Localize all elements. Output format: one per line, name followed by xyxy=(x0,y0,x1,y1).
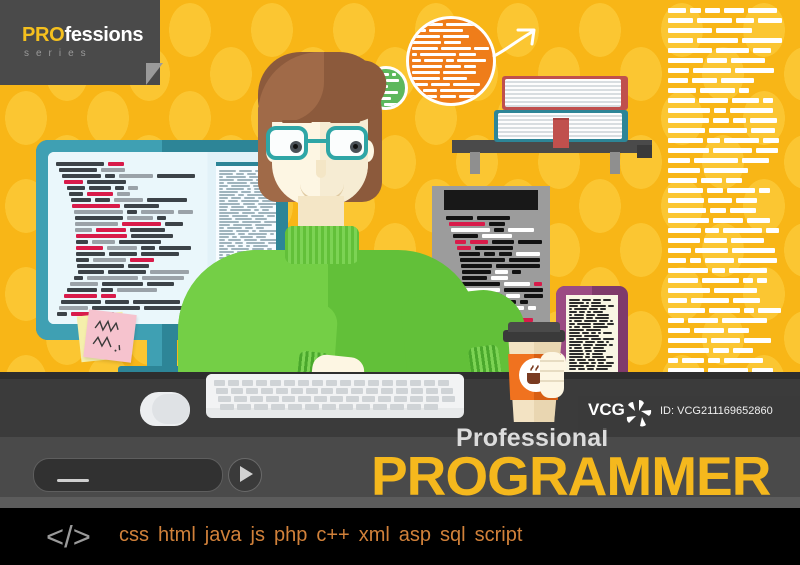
code-line xyxy=(748,8,777,13)
code-line xyxy=(705,258,734,263)
doc-line xyxy=(255,218,267,220)
tablet-text-line xyxy=(576,338,589,340)
keyboard-key[interactable] xyxy=(356,404,370,410)
code-line xyxy=(668,268,708,273)
code-line xyxy=(700,88,735,93)
code-line xyxy=(440,95,456,98)
code-line xyxy=(61,300,101,304)
code-line xyxy=(692,78,717,83)
doc-line xyxy=(227,245,235,247)
tablet-text-line xyxy=(569,344,581,346)
character-fingers xyxy=(540,352,564,398)
keyboard-key[interactable] xyxy=(441,388,453,394)
doc-line xyxy=(219,218,232,220)
keyboard-key[interactable] xyxy=(390,404,404,410)
tablet-text-line xyxy=(586,365,595,367)
tablet-text-line xyxy=(569,317,584,319)
code-line xyxy=(453,234,478,238)
keyboard-key[interactable] xyxy=(218,396,231,402)
coffee-cup-lid-top xyxy=(508,322,560,332)
code-line xyxy=(509,258,540,262)
keyboard-key[interactable] xyxy=(306,388,318,394)
doc-line xyxy=(264,221,276,223)
doc-line xyxy=(235,242,243,244)
language-tag[interactable]: html xyxy=(158,524,196,546)
code-line xyxy=(528,306,536,310)
code-line xyxy=(69,192,83,196)
code-line xyxy=(423,89,437,92)
doc-line xyxy=(244,197,255,199)
code-line xyxy=(751,128,775,133)
code-line xyxy=(707,58,727,63)
code-line xyxy=(747,218,770,223)
code-line-highlight xyxy=(64,294,97,298)
code-line xyxy=(461,264,492,268)
handwriting-scribble xyxy=(85,313,136,362)
keyboard-key[interactable] xyxy=(298,396,311,402)
banner-subtitle: series xyxy=(24,48,93,59)
keyboard-key[interactable] xyxy=(266,396,279,402)
code-line xyxy=(668,358,678,363)
keyboard-key[interactable] xyxy=(424,404,438,410)
doc-line xyxy=(231,197,241,199)
tablet-text-line xyxy=(595,317,609,319)
code-line xyxy=(766,228,779,233)
code-line xyxy=(141,210,174,214)
code-line xyxy=(668,228,701,233)
tablet-text-line xyxy=(606,356,613,358)
code-line xyxy=(412,23,443,26)
keyboard-key[interactable] xyxy=(442,396,455,402)
code-line xyxy=(710,208,726,213)
code-line xyxy=(668,148,709,153)
tablet-text-line xyxy=(586,314,595,316)
language-tag[interactable]: java xyxy=(205,524,242,546)
keyboard-key[interactable] xyxy=(216,388,228,394)
code-line xyxy=(668,318,684,323)
character-brow-left xyxy=(282,120,312,123)
keyboard-key[interactable] xyxy=(354,380,365,386)
keyboard-key[interactable] xyxy=(382,380,393,386)
tablet-text-line xyxy=(587,311,591,313)
language-tag[interactable]: js xyxy=(251,524,265,546)
tablet-screen xyxy=(566,295,618,375)
code-line xyxy=(412,83,428,86)
code-line-highlight xyxy=(122,222,161,226)
code-line xyxy=(668,348,709,353)
language-tag[interactable]: c++ xyxy=(316,524,349,546)
character-brow-right xyxy=(330,120,360,123)
code-line xyxy=(668,108,710,113)
keyboard-key[interactable] xyxy=(407,404,421,410)
code-line xyxy=(763,98,773,103)
code-line xyxy=(412,71,440,74)
banner-title-accent: PRO xyxy=(22,24,64,46)
code-line xyxy=(668,198,704,203)
code-line xyxy=(713,218,743,223)
code-line xyxy=(697,38,738,43)
code-line xyxy=(462,270,491,274)
tablet-text-line xyxy=(580,305,589,307)
doc-line xyxy=(262,209,269,211)
keyboard-key[interactable] xyxy=(254,404,268,410)
code-line xyxy=(102,282,143,286)
tablet-text-line xyxy=(569,368,576,370)
doc-line xyxy=(232,236,237,238)
language-tag[interactable]: php xyxy=(274,524,307,546)
doc-line xyxy=(256,227,264,229)
code-line xyxy=(475,246,513,250)
tablet-text-line xyxy=(569,359,575,361)
tablet-text-line xyxy=(600,308,606,310)
watermark-id: ID: VCG211169652860 xyxy=(660,405,773,417)
tablet-text-line xyxy=(585,356,590,358)
keyboard-key[interactable] xyxy=(234,396,247,402)
keyboard-key[interactable] xyxy=(228,380,239,386)
code-line xyxy=(165,222,183,226)
code-line xyxy=(127,216,153,220)
code-line xyxy=(412,95,421,98)
code-line xyxy=(75,228,92,232)
code-line xyxy=(114,198,143,202)
code-line xyxy=(691,298,729,303)
tablet-text-line xyxy=(598,332,601,334)
keyboard-key[interactable] xyxy=(426,388,438,394)
keyboard-key[interactable] xyxy=(305,404,319,410)
doc-line xyxy=(219,170,236,172)
tablet-text-line xyxy=(569,347,572,349)
doc-line xyxy=(219,203,240,205)
tablet-text-line xyxy=(598,362,604,364)
code-line xyxy=(707,138,720,143)
code-line xyxy=(412,59,421,62)
keyboard-key[interactable] xyxy=(288,404,302,410)
code-line xyxy=(70,282,98,286)
code-line-highlight xyxy=(64,180,83,184)
doc-line xyxy=(219,248,228,250)
doc-line xyxy=(231,206,244,208)
keyboard-key[interactable] xyxy=(214,380,225,386)
code-line xyxy=(742,158,769,163)
tablet-text-line xyxy=(574,320,582,322)
tablet-text-line xyxy=(577,359,586,361)
tablet-text-line xyxy=(596,368,608,370)
language-tag[interactable]: script xyxy=(475,524,523,546)
keyboard-key[interactable] xyxy=(291,388,303,394)
keyboard-key[interactable] xyxy=(312,380,323,386)
doc-line xyxy=(219,224,230,226)
code-line xyxy=(441,47,471,50)
doc-line xyxy=(219,179,234,181)
code-line xyxy=(716,48,749,53)
keyboard-key[interactable] xyxy=(326,380,337,386)
code-line xyxy=(150,270,189,274)
keyboard-key[interactable] xyxy=(256,380,267,386)
keyboard-key[interactable] xyxy=(276,388,288,394)
keyboard-keys-area[interactable] xyxy=(206,374,464,408)
shelf-leg-right xyxy=(610,152,620,174)
code-line xyxy=(668,128,705,133)
code-line xyxy=(459,53,476,56)
keyboard-key[interactable] xyxy=(411,388,423,394)
code-line xyxy=(459,252,480,256)
doc-line xyxy=(219,182,224,184)
code-line xyxy=(713,118,729,123)
language-tag[interactable]: sql xyxy=(440,524,466,546)
finger-line-3 xyxy=(540,380,564,382)
keyboard-key[interactable] xyxy=(261,388,273,394)
keyboard-key[interactable] xyxy=(339,404,353,410)
keyboard-key[interactable] xyxy=(271,404,285,410)
tablet-text-line xyxy=(569,365,584,367)
doc-line xyxy=(270,233,274,235)
code-line-highlight xyxy=(101,294,116,298)
tablet-text-line xyxy=(582,299,591,301)
code-line xyxy=(443,77,467,80)
keyboard-key[interactable] xyxy=(246,388,258,394)
code-line xyxy=(93,258,126,262)
code-line xyxy=(62,174,101,178)
code-line xyxy=(133,300,180,304)
code-line xyxy=(708,198,732,203)
tablet-text-line xyxy=(588,359,595,361)
doc-line xyxy=(251,215,264,217)
code-line xyxy=(141,252,179,256)
character-nose xyxy=(316,160,326,178)
code-line xyxy=(668,308,705,313)
keyboard-key[interactable] xyxy=(284,380,295,386)
code-line xyxy=(713,348,729,353)
code-line xyxy=(492,240,514,244)
code-line xyxy=(724,138,759,143)
code-line xyxy=(744,338,771,343)
code-line xyxy=(157,216,166,220)
keyboard-key[interactable] xyxy=(270,380,281,386)
code-line xyxy=(453,83,480,86)
code-line xyxy=(735,68,774,73)
keyboard-key[interactable] xyxy=(373,404,387,410)
code-line xyxy=(76,258,89,262)
doc-line xyxy=(238,245,243,247)
code-line xyxy=(494,228,504,232)
code-line xyxy=(92,306,140,310)
code-line xyxy=(668,208,706,213)
shelf-leg-left xyxy=(470,152,480,174)
code-line xyxy=(732,248,775,253)
keyboard-key[interactable] xyxy=(330,396,343,402)
code-line xyxy=(705,8,720,13)
doc-line xyxy=(219,197,228,199)
keyboard-key[interactable] xyxy=(424,380,435,386)
character-neck xyxy=(298,196,344,230)
doc-line xyxy=(232,215,248,217)
doc-line xyxy=(219,215,229,217)
code-line xyxy=(668,288,710,293)
tablet-text-line xyxy=(569,356,583,358)
doc-line xyxy=(237,179,253,181)
code-line xyxy=(412,41,441,44)
tablet-text-line xyxy=(592,356,604,358)
code-line xyxy=(420,53,456,56)
code-line xyxy=(724,358,763,363)
doc-line xyxy=(235,218,252,220)
tablet-text-line xyxy=(589,308,598,310)
keyboard-key[interactable] xyxy=(396,380,407,386)
doc-line xyxy=(242,212,255,214)
doc-line xyxy=(219,209,227,211)
keyboard-key[interactable] xyxy=(426,396,439,402)
code-line xyxy=(446,59,454,62)
doc-line xyxy=(219,254,223,256)
doc-line xyxy=(243,203,255,205)
tablet-text-line xyxy=(569,362,577,364)
tablet-text-line xyxy=(578,368,585,370)
tablet-text-line xyxy=(569,350,583,352)
keyboard-key[interactable] xyxy=(438,380,449,386)
code-line xyxy=(108,270,146,274)
keyboard-key[interactable] xyxy=(410,396,423,402)
code-line xyxy=(477,216,510,220)
code-line xyxy=(412,29,426,32)
code-line xyxy=(668,278,698,283)
code-line-highlight xyxy=(96,228,126,232)
language-tag[interactable]: xml xyxy=(359,524,390,546)
code-line xyxy=(499,252,512,256)
code-line xyxy=(128,264,149,268)
page-title: PROGRAMMER xyxy=(371,444,770,508)
glasses-lens-left xyxy=(266,126,308,160)
doc-line xyxy=(238,233,245,235)
illustration-canvas: PROfessions series Professional PROGRAMM… xyxy=(0,0,800,565)
tablet-text-line xyxy=(584,320,597,322)
code-line xyxy=(424,95,437,98)
search-input-pill[interactable] xyxy=(33,458,223,492)
code-line xyxy=(736,18,754,23)
tablet-text-line xyxy=(593,323,605,325)
code-line xyxy=(668,118,709,123)
code-line xyxy=(731,238,764,243)
code-line xyxy=(89,186,111,190)
keyboard-key[interactable] xyxy=(231,388,243,394)
keyboard-key[interactable] xyxy=(394,396,407,402)
keyboard-key[interactable] xyxy=(368,380,379,386)
doc-line xyxy=(258,212,276,214)
code-line xyxy=(763,138,779,143)
code-line xyxy=(690,8,701,13)
keyboard-key[interactable] xyxy=(340,380,351,386)
doc-line xyxy=(236,230,249,232)
keyboard-key[interactable] xyxy=(410,380,421,386)
code-line xyxy=(474,47,489,50)
keyboard-key[interactable] xyxy=(242,380,253,386)
finger-line-1 xyxy=(540,360,564,362)
code-line xyxy=(445,65,461,68)
doc-line xyxy=(252,230,256,232)
language-tag[interactable]: asp xyxy=(399,524,431,546)
search-input-caret xyxy=(57,479,89,482)
code-line xyxy=(518,240,542,244)
tablet-text-line xyxy=(569,302,584,304)
code-line xyxy=(668,248,691,253)
language-tag[interactable]: css xyxy=(119,524,149,546)
keyboard-key[interactable] xyxy=(237,404,251,410)
keyboard-key[interactable] xyxy=(381,388,393,394)
code-line xyxy=(520,300,528,304)
code-line xyxy=(668,88,696,93)
code-line xyxy=(431,83,450,86)
keyboard-key[interactable] xyxy=(298,380,309,386)
code-line xyxy=(105,300,129,304)
tablet-text-line xyxy=(597,365,612,367)
tablet-text-line xyxy=(586,317,593,319)
tablet-text-line xyxy=(606,341,609,343)
keyboard-key[interactable] xyxy=(220,404,234,410)
tablet-text-line xyxy=(569,338,574,340)
doc-line xyxy=(219,245,224,247)
code-line xyxy=(668,78,688,83)
tablet-text-line xyxy=(585,350,592,352)
doc-line xyxy=(247,206,257,208)
keyboard-key[interactable] xyxy=(321,388,333,394)
tablet-text-line xyxy=(591,302,601,304)
tablet-text-line xyxy=(593,311,603,313)
code-line xyxy=(682,358,704,363)
code-line xyxy=(668,328,690,333)
code-line xyxy=(516,252,540,256)
keyboard-key[interactable] xyxy=(378,396,391,402)
keyboard-key[interactable] xyxy=(282,396,295,402)
keyboard-key[interactable] xyxy=(362,396,375,402)
code-line xyxy=(59,168,97,172)
code-line xyxy=(424,59,443,62)
keyboard-key[interactable] xyxy=(314,396,327,402)
keyboard-key[interactable] xyxy=(322,404,336,410)
tablet-text-line xyxy=(595,344,607,346)
keyboard-key[interactable] xyxy=(250,396,263,402)
code-line xyxy=(713,148,752,153)
code-line xyxy=(708,358,720,363)
code-line xyxy=(733,298,760,303)
doc-line xyxy=(219,173,233,175)
tablet-text-line xyxy=(584,347,591,349)
tablet-text-line xyxy=(591,305,606,307)
keyboard-key[interactable] xyxy=(366,388,378,394)
keyboard-key[interactable] xyxy=(336,388,348,394)
code-line xyxy=(714,108,726,113)
doc-line xyxy=(253,245,268,247)
doc-line xyxy=(219,236,229,238)
tablet-text-line xyxy=(569,341,583,343)
code-line xyxy=(412,53,417,56)
tablet-text-line xyxy=(579,362,589,364)
keyboard-key[interactable] xyxy=(351,388,363,394)
keyboard-key[interactable] xyxy=(346,396,359,402)
code-line xyxy=(107,246,137,250)
keyboard-key[interactable] xyxy=(396,388,408,394)
doc-line xyxy=(242,221,261,223)
code-line xyxy=(105,174,115,178)
doc-line xyxy=(267,215,275,217)
tablet-text-line xyxy=(603,299,611,301)
code-line xyxy=(464,65,476,68)
code-line xyxy=(412,77,440,80)
doc-line xyxy=(230,209,251,211)
doc-line xyxy=(219,176,223,178)
doc-line xyxy=(245,227,253,229)
doc-line xyxy=(226,176,246,178)
code-line-highlight xyxy=(534,282,542,286)
tablet-text-line xyxy=(597,341,604,343)
